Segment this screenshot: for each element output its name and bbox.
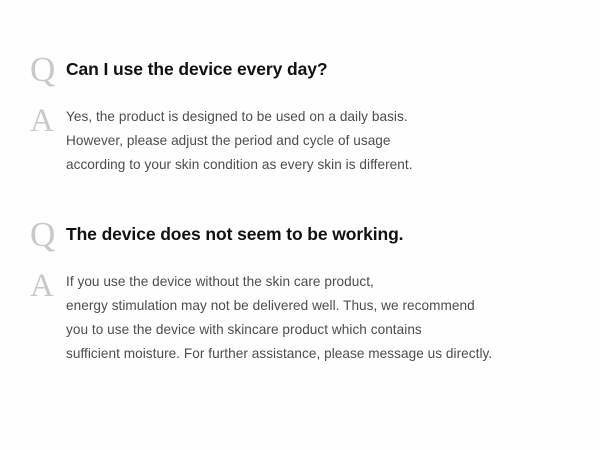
- faq-question-text: Can I use the device every day?: [66, 52, 578, 81]
- faq-item-1: Q Can I use the device every day? A Yes,…: [22, 52, 578, 177]
- answer-line: However, please adjust the period and cy…: [66, 129, 578, 153]
- faq-answer-text: If you use the device without the skin c…: [66, 268, 578, 366]
- faq-question-text: The device does not seem to be working.: [66, 217, 578, 246]
- answer-line: Yes, the product is designed to be used …: [66, 105, 578, 129]
- answer-line: energy stimulation may not be delivered …: [66, 294, 578, 318]
- faq-answer-text: Yes, the product is designed to be used …: [66, 103, 578, 177]
- answer-marker-icon: A: [22, 268, 66, 303]
- question-marker-icon: Q: [22, 52, 66, 87]
- faq-page: Q Can I use the device every day? A Yes,…: [0, 0, 600, 450]
- faq-answer-row: A Yes, the product is designed to be use…: [22, 103, 578, 177]
- answer-line: you to use the device with skincare prod…: [66, 318, 578, 342]
- faq-item-2: Q The device does not seem to be working…: [22, 217, 578, 366]
- answer-line: sufficient moisture. For further assista…: [66, 342, 578, 366]
- faq-question-row: Q The device does not seem to be working…: [22, 217, 578, 252]
- answer-line: according to your skin condition as ever…: [66, 153, 578, 177]
- question-marker-icon: Q: [22, 217, 66, 252]
- faq-question-row: Q Can I use the device every day?: [22, 52, 578, 87]
- faq-answer-row: A If you use the device without the skin…: [22, 268, 578, 366]
- answer-line: If you use the device without the skin c…: [66, 270, 578, 294]
- answer-marker-icon: A: [22, 103, 66, 138]
